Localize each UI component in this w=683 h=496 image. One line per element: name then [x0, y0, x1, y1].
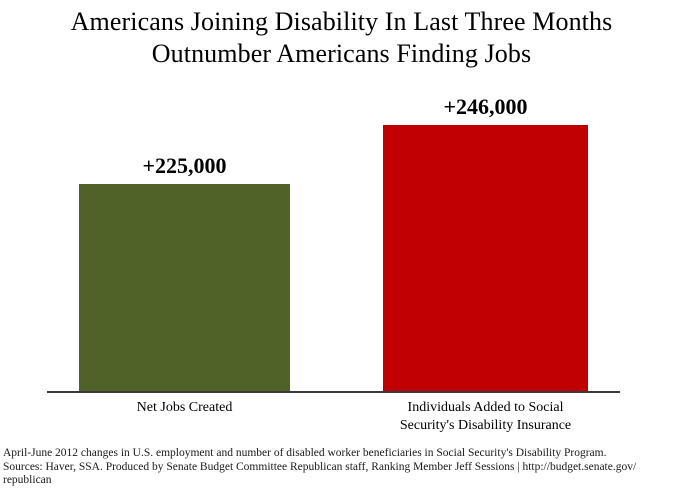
category-label-disability-added: Individuals Added to Social Security's D…	[365, 399, 606, 435]
footnote-line-2: Sources: Haver, SSA. Produced by Senate …	[3, 461, 679, 475]
plot-area: +225,000 +246,000 Net Jobs Created Indiv…	[0, 0, 683, 496]
footnote-line-3: republican	[3, 474, 679, 488]
axis-baseline	[47, 391, 620, 393]
category-label-net-jobs-created: Net Jobs Created	[74, 399, 295, 417]
chart-footnote: April-June 2012 changes in U.S. employme…	[3, 447, 679, 488]
bar-disability-added	[383, 125, 588, 392]
footnote-line-1: April-June 2012 changes in U.S. employme…	[3, 447, 679, 461]
category-label-disability-line-1: Individuals Added to Social	[365, 399, 606, 417]
category-label-net-jobs-line-1: Net Jobs Created	[74, 399, 295, 417]
data-label-disability-added: +246,000	[381, 94, 590, 120]
category-label-disability-line-2: Security's Disability Insurance	[365, 417, 606, 435]
bar-net-jobs-created	[79, 184, 290, 392]
data-label-net-jobs-created: +225,000	[79, 153, 290, 179]
chart-canvas: Americans Joining Disability In Last Thr…	[0, 0, 683, 496]
